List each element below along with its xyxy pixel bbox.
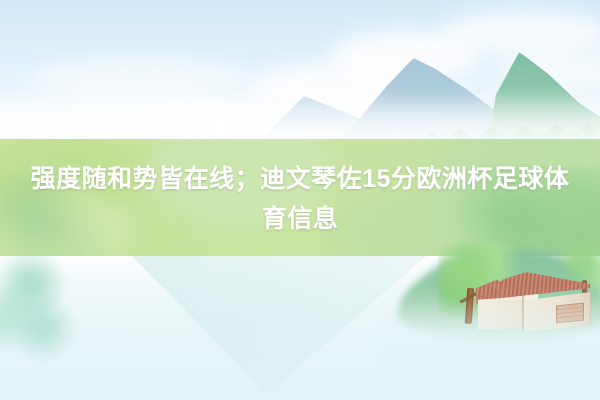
banner-image: 强度随和势皆在线；迪文琴佐15分欧洲杯足球体 育信息 [0,0,600,400]
foreground-mist [380,300,600,360]
headline-text-block: 强度随和势皆在线；迪文琴佐15分欧洲杯足球体 育信息 [0,139,600,258]
foreground-foliage-left [0,256,80,368]
headline-line-1: 强度随和势皆在线；迪文琴佐15分欧洲杯足球体 [31,160,570,198]
headline-line-2: 育信息 [262,200,339,238]
